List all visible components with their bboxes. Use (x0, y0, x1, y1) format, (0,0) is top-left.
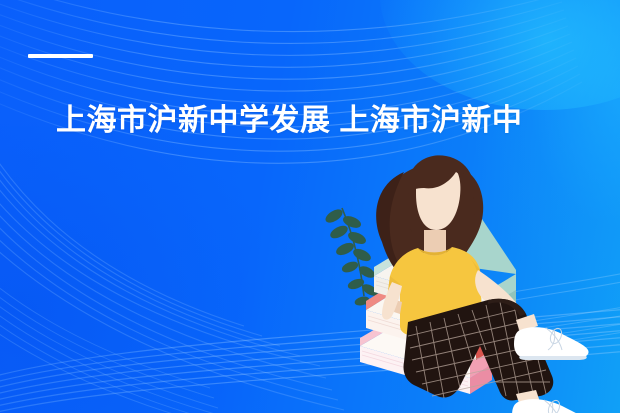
background-left-shade (0, 120, 260, 413)
figure-shoe-upper (514, 314, 589, 360)
leaf-sprig (324, 207, 380, 312)
accent-rule (28, 54, 93, 58)
figure-shoe-lower (512, 390, 589, 413)
hero-illustration (320, 150, 620, 413)
promo-banner: 上海市沪新中学发展 上海市沪新中 (0, 0, 620, 413)
page-title: 上海市沪新中学发展 上海市沪新中 (56, 101, 576, 141)
